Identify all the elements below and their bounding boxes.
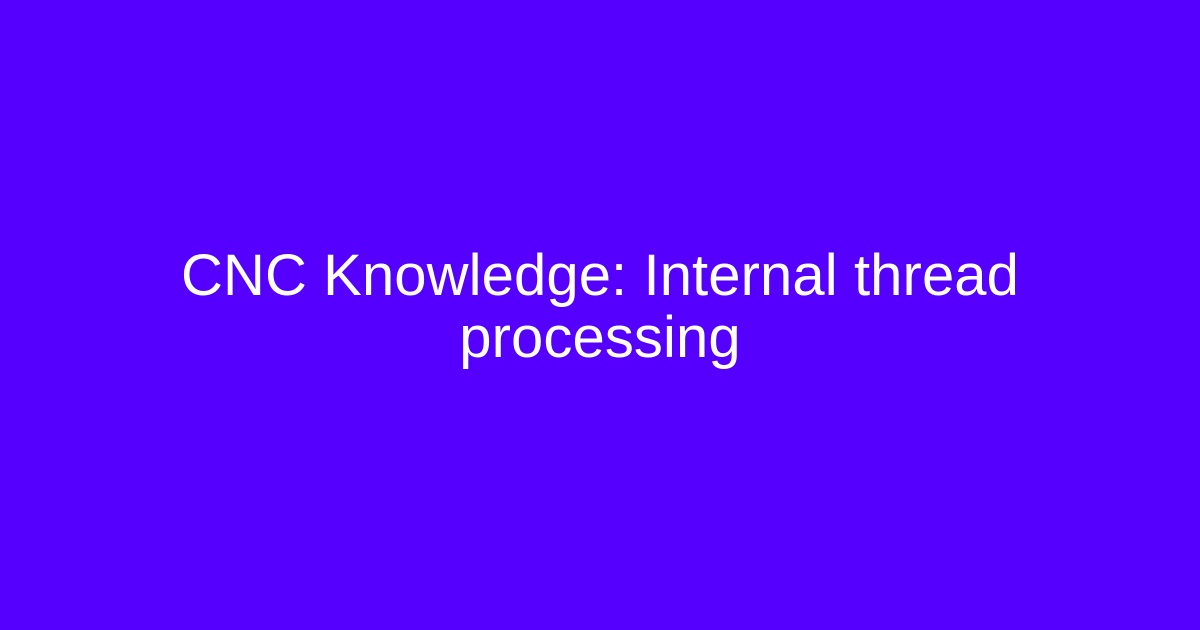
page-title: CNC Knowledge: Internal thread processin… [120,245,1080,369]
share-card-content: CNC Knowledge: Internal thread processin… [0,245,1200,369]
share-card: CNC Knowledge: Internal thread processin… [0,0,1200,630]
